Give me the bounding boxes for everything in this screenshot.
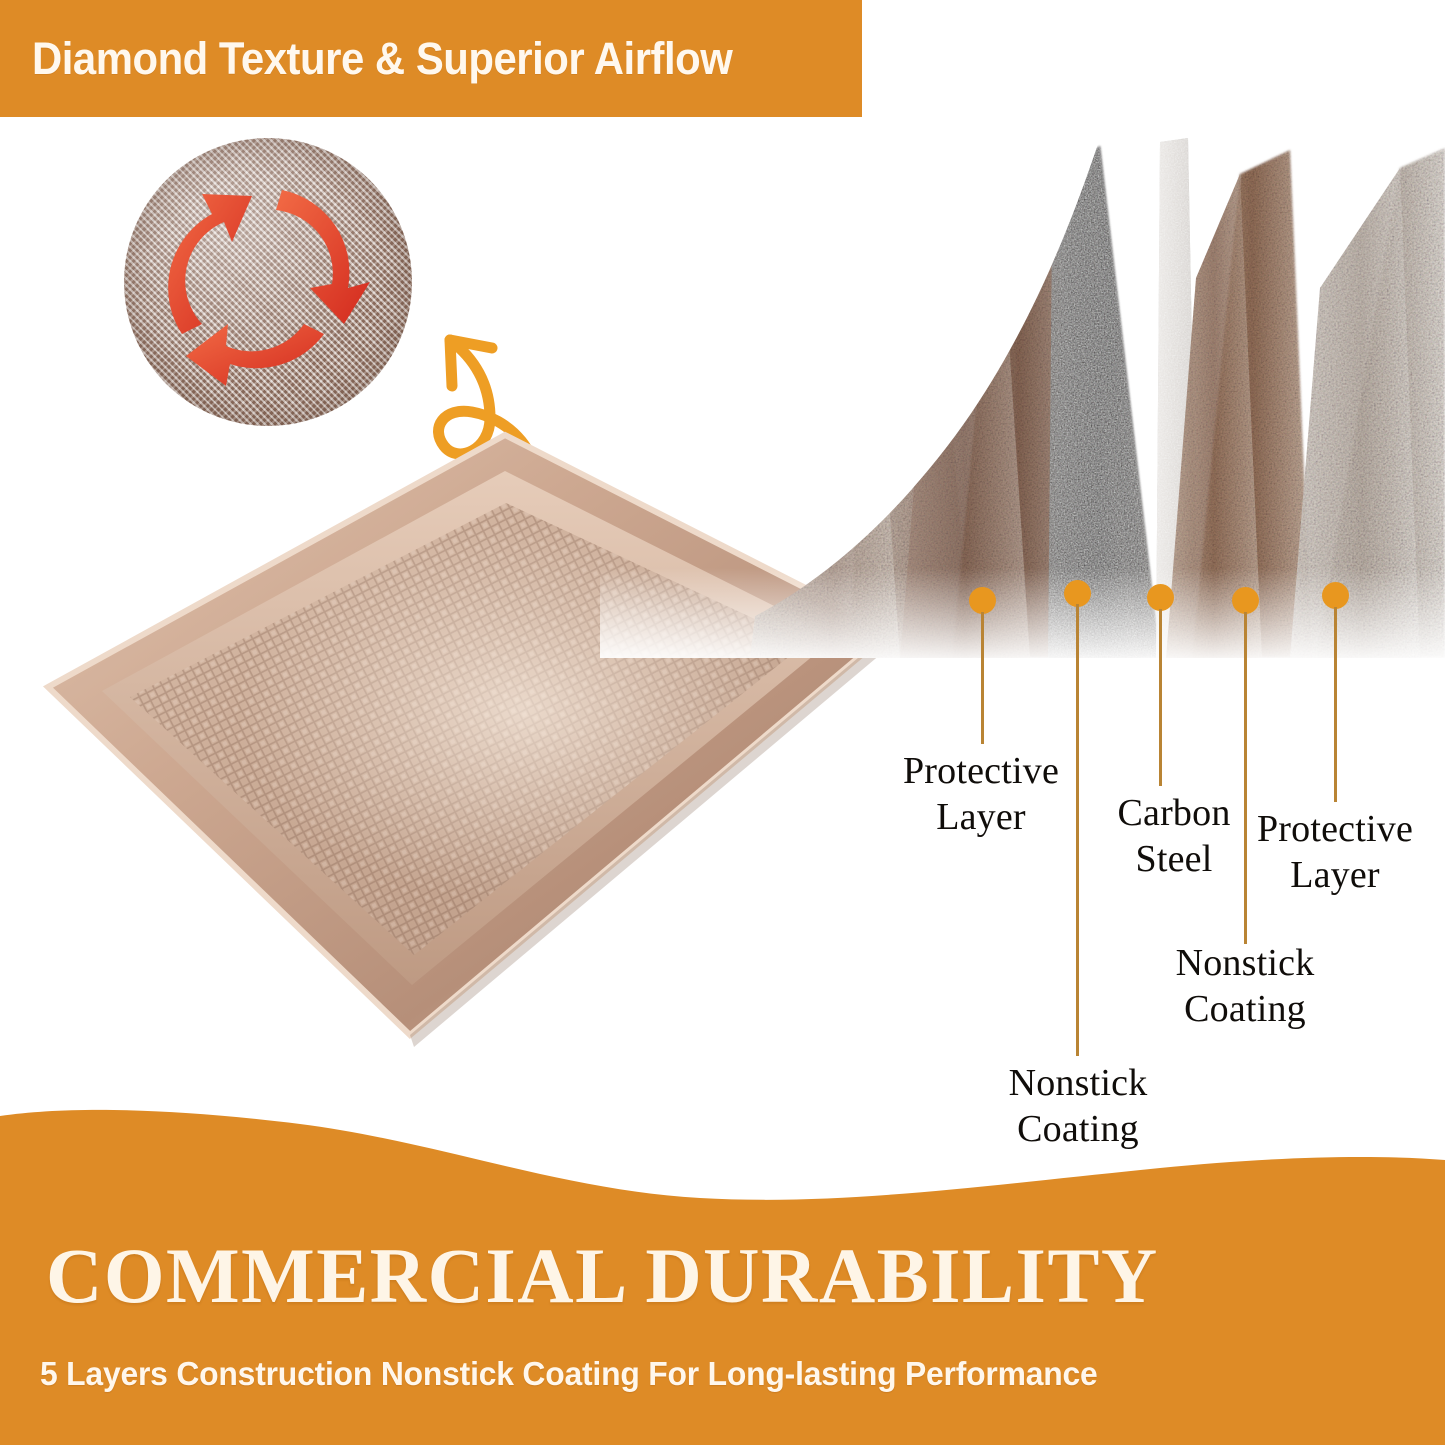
footer-headline: COMMERCIAL DURABILITY xyxy=(46,1231,1159,1321)
layer-label-1: Protective Layer xyxy=(866,748,1096,841)
infographic-canvas: Diamond Texture & Superior Airflow xyxy=(0,0,1445,1445)
callout-leader-1 xyxy=(981,612,984,744)
callout-dot-layer-4[interactable] xyxy=(1232,587,1259,614)
cross-section-layers xyxy=(600,138,1445,658)
footer-subheadline: 5 Layers Construction Nonstick Coating F… xyxy=(40,1355,1098,1393)
callout-dot-layer-2[interactable] xyxy=(1064,580,1091,607)
callout-dot-layer-1[interactable] xyxy=(969,587,996,614)
callout-leader-5 xyxy=(1334,607,1337,802)
header-banner: Diamond Texture & Superior Airflow xyxy=(0,0,862,117)
page-title: Diamond Texture & Superior Airflow xyxy=(32,33,732,85)
callout-dot-layer-3[interactable] xyxy=(1147,584,1174,611)
layer-label-4: Nonstick Coating xyxy=(1132,940,1358,1033)
callout-dot-layer-5[interactable] xyxy=(1322,582,1349,609)
diamond-texture-closeup xyxy=(124,138,412,426)
layer-label-5: Protective Layer xyxy=(1222,806,1445,899)
callout-leader-3 xyxy=(1159,609,1162,786)
airflow-arrows-icon xyxy=(124,138,412,426)
